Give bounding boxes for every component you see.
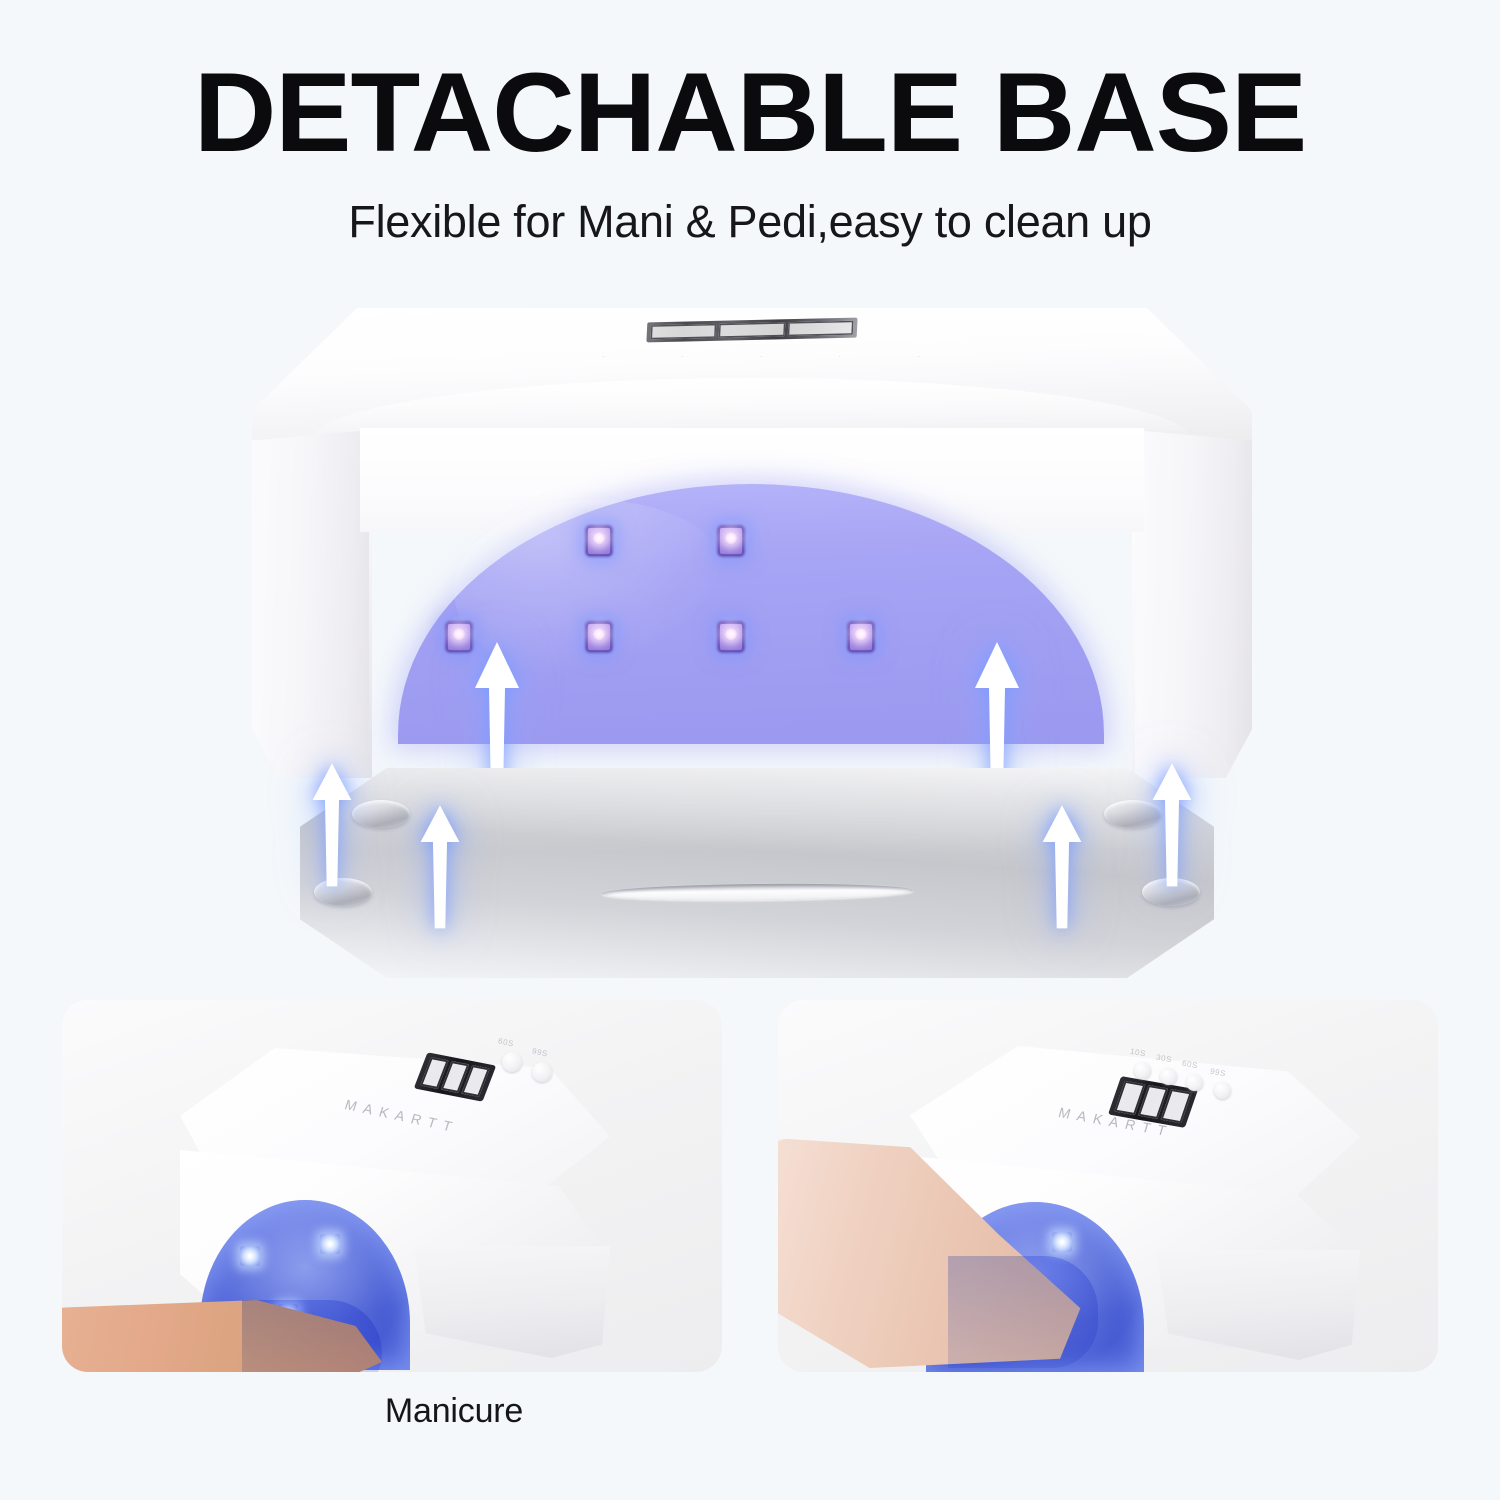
display-digit [787,321,853,336]
lamp-head-assembly: · · · · · [252,308,1252,778]
display-digit [719,322,785,337]
usage-panels: MAKARTT 60S 99S Manicure [0,1000,1500,1500]
lamp-leg-right [1132,430,1252,778]
led-bead [848,622,874,652]
led-bead [586,526,612,556]
base-plate-groove [602,882,913,901]
hand-uv-tint [242,1300,382,1372]
pl-button-label: 99S [531,1046,549,1058]
product-infographic-page: DETACHABLE BASE Flexible for Mani & Pedi… [0,0,1500,1500]
led-bead [446,622,472,652]
base-foot-pad [352,800,410,828]
control-mark: · [681,351,686,361]
glow-arrow-up [418,802,462,930]
manicure-photo: MAKARTT 60S 99S [62,1000,722,1372]
control-mark: · [760,351,765,361]
pl-timer-button[interactable] [1160,1068,1177,1085]
glow-arrow-up [1040,802,1084,930]
control-mark: · [838,351,843,361]
page-subtitle: Flexible for Mani & Pedi,easy to clean u… [0,196,1500,248]
glow-arrow-up [310,760,354,888]
led-bead [718,526,744,556]
header: DETACHABLE BASE Flexible for Mani & Pedi… [0,0,1500,248]
control-mark: · [602,351,607,361]
pl-timer-button[interactable] [502,1052,522,1072]
pl-timer-button[interactable] [1134,1062,1151,1079]
panel-manicure[interactable]: MAKARTT 60S 99S Manicure [62,1000,722,1372]
lamp-display-digit-group [651,321,854,340]
pl-button-label: 60S [497,1036,515,1048]
lamp-control-engraving-row: · · · · · [602,348,922,364]
led-bead [586,622,612,652]
pedicure-photo: MAKARTT 10S 30S 60S 99S [778,1000,1438,1372]
pl-timer-button[interactable] [1186,1074,1203,1091]
glow-arrow-up [1150,760,1194,888]
pl-button-label: 10S [1129,1047,1146,1059]
display-digit [651,324,717,339]
lamp-leg-left [252,430,372,778]
page-title: DETACHABLE BASE [0,56,1500,170]
panel-pedicure[interactable]: MAKARTT 10S 30S 60S 99S Pedicure [778,1000,1438,1372]
foot-uv-tint [948,1256,1098,1368]
pl-timer-button[interactable] [532,1062,552,1082]
panel-caption-manicure: Manicure [124,1392,784,1431]
pl-timer-button[interactable] [1214,1082,1231,1099]
hero-product-scene: · · · · · [0,290,1500,990]
pl-led-bead [320,1234,340,1254]
control-mark: · [917,351,922,361]
pl-led-bead [240,1246,260,1266]
led-bead [718,622,744,652]
pl-led-bead [1052,1232,1072,1252]
